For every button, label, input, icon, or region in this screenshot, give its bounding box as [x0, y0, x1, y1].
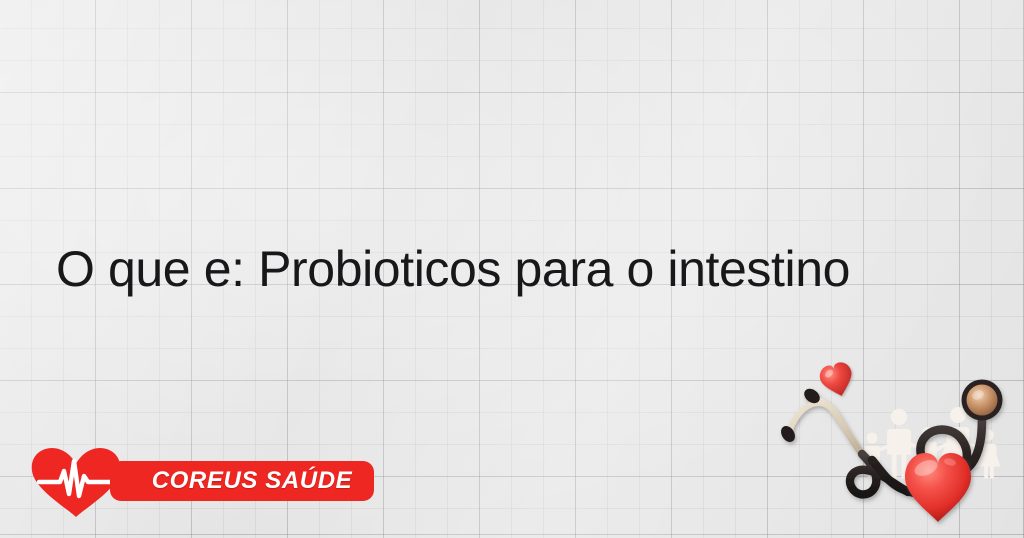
page-title: O que e: Probioticos para o intestino	[56, 243, 996, 295]
stethoscope-chestpiece	[962, 380, 1003, 421]
large-heart-icon	[905, 453, 971, 522]
brand-logo[interactable]: COREUS SAÚDE	[28, 447, 348, 519]
small-heart-icon	[817, 360, 857, 401]
slide-canvas: O que e: Probioticos para o intestino CO…	[0, 0, 1024, 538]
brand-name-text: COREUS SAÚDE	[132, 461, 372, 501]
healthcare-family-stethoscope-illustration	[776, 352, 1024, 532]
